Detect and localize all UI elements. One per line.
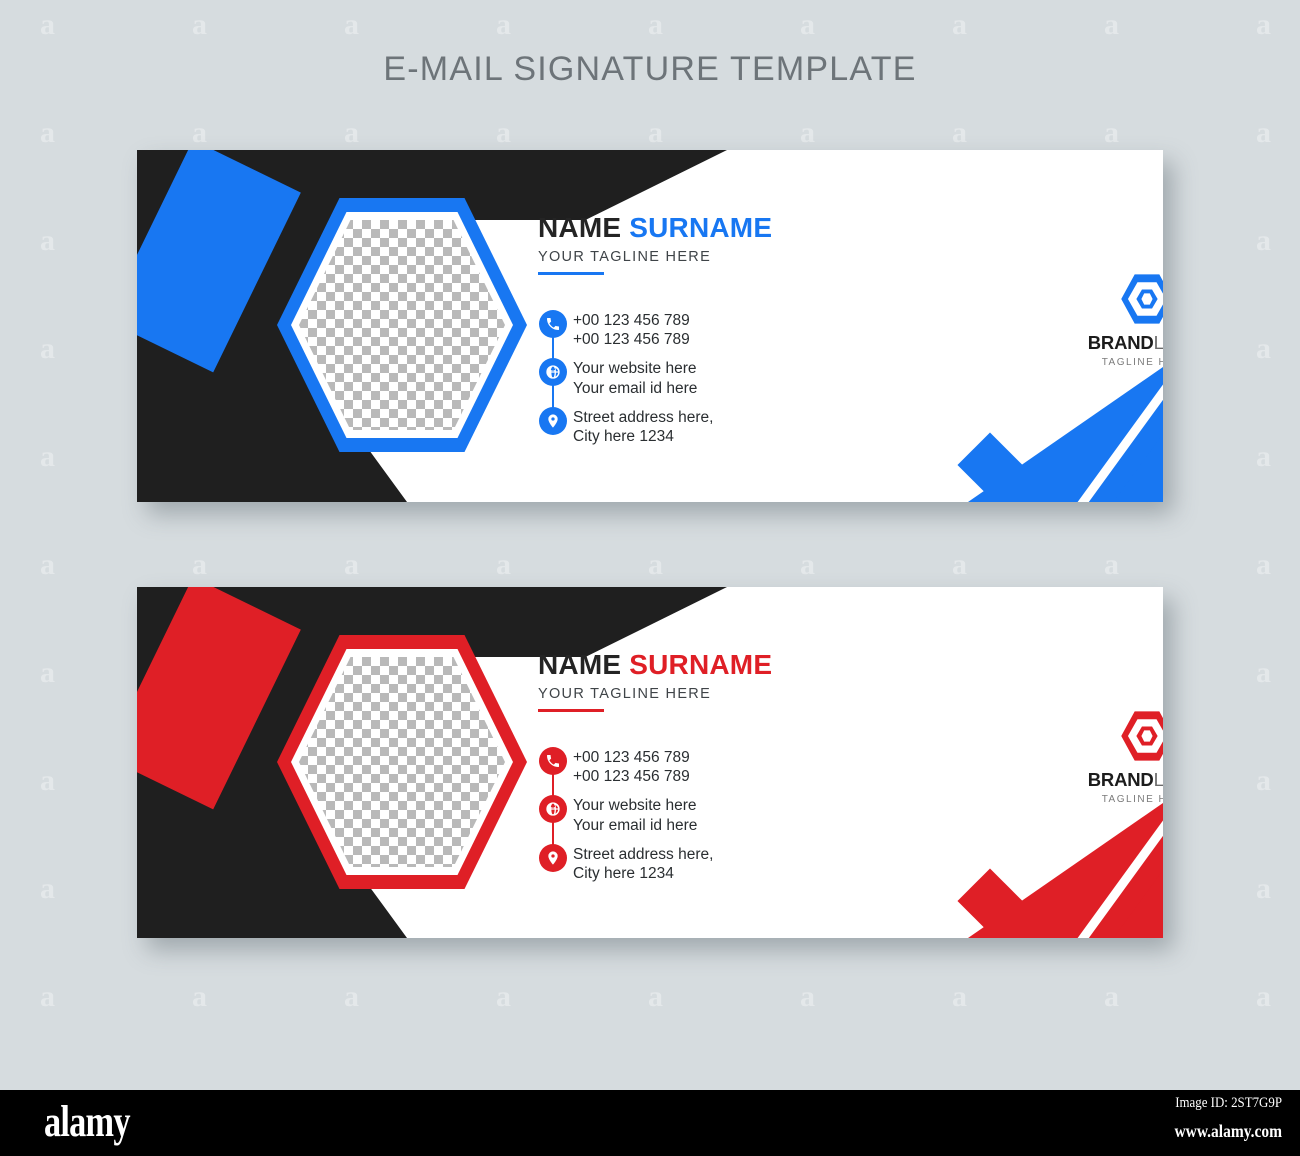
watermark-glyph: a (1104, 982, 1119, 1012)
signature-card-red[interactable]: NAME SURNAME YOUR TAGLINE HERE +00 123 4… (137, 587, 1163, 938)
brand-name-bold: BRAND (1088, 769, 1154, 790)
watermark-glyph: a (344, 10, 359, 40)
phone-line-1: +00 123 456 789 (573, 748, 690, 767)
brand-tagline: TAGLINE HERE (1062, 357, 1163, 368)
watermark-glyph: a (952, 118, 967, 148)
brand-name-light: LOGO (1154, 332, 1163, 353)
website-line: Your website here (573, 796, 697, 815)
watermark-glyph: a (40, 550, 55, 580)
brand-block[interactable]: BRANDLOGO TAGLINE HERE (1062, 272, 1163, 368)
hexagon-logo-icon (1119, 709, 1163, 763)
watermark-glyph: a (496, 982, 511, 1012)
watermark-glyph: a (800, 118, 815, 148)
phone-lines: +00 123 456 789 +00 123 456 789 (573, 310, 690, 349)
phone-line-2: +00 123 456 789 (573, 767, 690, 786)
icon-column (533, 844, 573, 872)
contact-row-web[interactable]: Your website here Your email id here (533, 795, 713, 834)
tagline-underline (538, 709, 604, 712)
watermark-glyph: a (800, 10, 815, 40)
image-id: Image ID: 2ST7G9P (1175, 1095, 1283, 1112)
watermark-glyph: a (1104, 10, 1119, 40)
watermark-glyph: a (800, 982, 815, 1012)
tagline-text: YOUR TAGLINE HERE (538, 686, 772, 702)
address-line-1: Street address here, (573, 845, 713, 864)
phone-lines: +00 123 456 789 +00 123 456 789 (573, 747, 690, 786)
brand-name: BRANDLOGO (1062, 769, 1163, 791)
tagline-text: YOUR TAGLINE HERE (538, 249, 772, 265)
corner-decoration (933, 352, 1163, 502)
footer-bar: alamy Image ID: 2ST7G9P www.alamy.com (0, 1090, 1300, 1156)
watermark-glyph: a (344, 982, 359, 1012)
contact-row-phone[interactable]: +00 123 456 789 +00 123 456 789 (533, 747, 713, 786)
address-line-2: City here 1234 (573, 864, 713, 883)
last-name: SURNAME (629, 212, 772, 243)
watermark-glyph: a (1256, 334, 1271, 364)
address-lines: Street address here, City here 1234 (573, 844, 713, 883)
watermark-glyph: a (1256, 766, 1271, 796)
icon-column (533, 358, 573, 386)
phone-icon (539, 310, 567, 338)
watermark-glyph: a (1256, 982, 1271, 1012)
hexagon-logo-icon (1119, 272, 1163, 326)
full-name: NAME SURNAME (538, 213, 772, 242)
brand-name-bold: BRAND (1088, 332, 1154, 353)
watermark-glyph: a (1256, 874, 1271, 904)
watermark-glyph: a (40, 766, 55, 796)
first-name: NAME (538, 649, 621, 680)
watermark-glyph: a (1256, 442, 1271, 472)
address-line-2: City here 1234 (573, 427, 713, 446)
phone-line-2: +00 123 456 789 (573, 330, 690, 349)
watermark-glyph: a (1104, 118, 1119, 148)
contact-row-phone[interactable]: +00 123 456 789 +00 123 456 789 (533, 310, 713, 349)
globe-icon (539, 795, 567, 823)
watermark-glyph: a (1256, 10, 1271, 40)
icon-column (533, 407, 573, 435)
icon-column (533, 795, 573, 823)
watermark-glyph: a (192, 10, 207, 40)
watermark-glyph: a (952, 10, 967, 40)
watermark-glyph: a (40, 982, 55, 1012)
watermark-glyph: a (192, 982, 207, 1012)
location-pin-icon (539, 844, 567, 872)
corner-decoration (933, 788, 1163, 938)
alamy-logo: alamy (44, 1096, 130, 1147)
watermark-glyph: a (40, 118, 55, 148)
address-lines: Street address here, City here 1234 (573, 407, 713, 446)
watermark-glyph: a (1256, 118, 1271, 148)
full-name: NAME SURNAME (538, 650, 772, 679)
brand-tagline: TAGLINE HERE (1062, 794, 1163, 805)
contact-list: +00 123 456 789 +00 123 456 789 Your web… (533, 310, 713, 446)
watermark-glyph: a (1256, 550, 1271, 580)
footer-meta: Image ID: 2ST7G9P www.alamy.com (1175, 1095, 1283, 1142)
watermark-glyph: a (40, 442, 55, 472)
watermark-glyph: a (648, 982, 663, 1012)
email-line: Your email id here (573, 816, 697, 835)
watermark-glyph: a (40, 658, 55, 688)
watermark-glyph: a (496, 118, 511, 148)
watermark-glyph: a (344, 118, 359, 148)
brand-name-light: LOGO (1154, 769, 1163, 790)
watermark-glyph: a (1256, 226, 1271, 256)
brand-block[interactable]: BRANDLOGO TAGLINE HERE (1062, 709, 1163, 805)
photo-hexagon-frame[interactable] (277, 198, 527, 452)
photo-hexagon-frame[interactable] (277, 635, 527, 889)
contact-row-web[interactable]: Your website here Your email id here (533, 358, 713, 397)
watermark-glyph: a (496, 10, 511, 40)
icon-column (533, 747, 573, 775)
contact-list: +00 123 456 789 +00 123 456 789 Your web… (533, 747, 713, 883)
page-title: E-MAIL SIGNATURE TEMPLATE (0, 50, 1300, 89)
watermark-glyph: a (1256, 658, 1271, 688)
location-pin-icon (539, 407, 567, 435)
watermark-glyph: a (952, 550, 967, 580)
watermark-glyph: a (648, 10, 663, 40)
footer-website: www.alamy.com (1175, 1121, 1283, 1142)
address-line-1: Street address here, (573, 408, 713, 427)
globe-icon (539, 358, 567, 386)
watermark-glyph: a (344, 550, 359, 580)
identity-block: NAME SURNAME YOUR TAGLINE HERE (538, 650, 772, 712)
watermark-glyph: a (40, 334, 55, 364)
watermark-glyph: a (952, 982, 967, 1012)
watermark-glyph: a (496, 550, 511, 580)
watermark-glyph: a (192, 550, 207, 580)
web-lines: Your website here Your email id here (573, 795, 697, 834)
watermark-glyph: a (648, 550, 663, 580)
phone-line-1: +00 123 456 789 (573, 311, 690, 330)
website-line: Your website here (573, 359, 697, 378)
watermark-glyph: a (800, 550, 815, 580)
tagline-underline (538, 272, 604, 275)
brand-name: BRANDLOGO (1062, 332, 1163, 354)
watermark-glyph: a (40, 874, 55, 904)
web-lines: Your website here Your email id here (573, 358, 697, 397)
watermark-glyph: a (40, 10, 55, 40)
signature-card-blue[interactable]: NAME SURNAME YOUR TAGLINE HERE +00 123 4… (137, 150, 1163, 502)
identity-block: NAME SURNAME YOUR TAGLINE HERE (538, 213, 772, 275)
first-name: NAME (538, 212, 621, 243)
watermark-glyph: a (192, 118, 207, 148)
icon-column (533, 310, 573, 338)
watermark-glyph: a (1104, 550, 1119, 580)
watermark-glyph: a (40, 226, 55, 256)
phone-icon (539, 747, 567, 775)
contact-row-address[interactable]: Street address here, City here 1234 (533, 844, 713, 883)
last-name: SURNAME (629, 649, 772, 680)
contact-row-address[interactable]: Street address here, City here 1234 (533, 407, 713, 446)
email-line: Your email id here (573, 379, 697, 398)
watermark-glyph: a (648, 118, 663, 148)
